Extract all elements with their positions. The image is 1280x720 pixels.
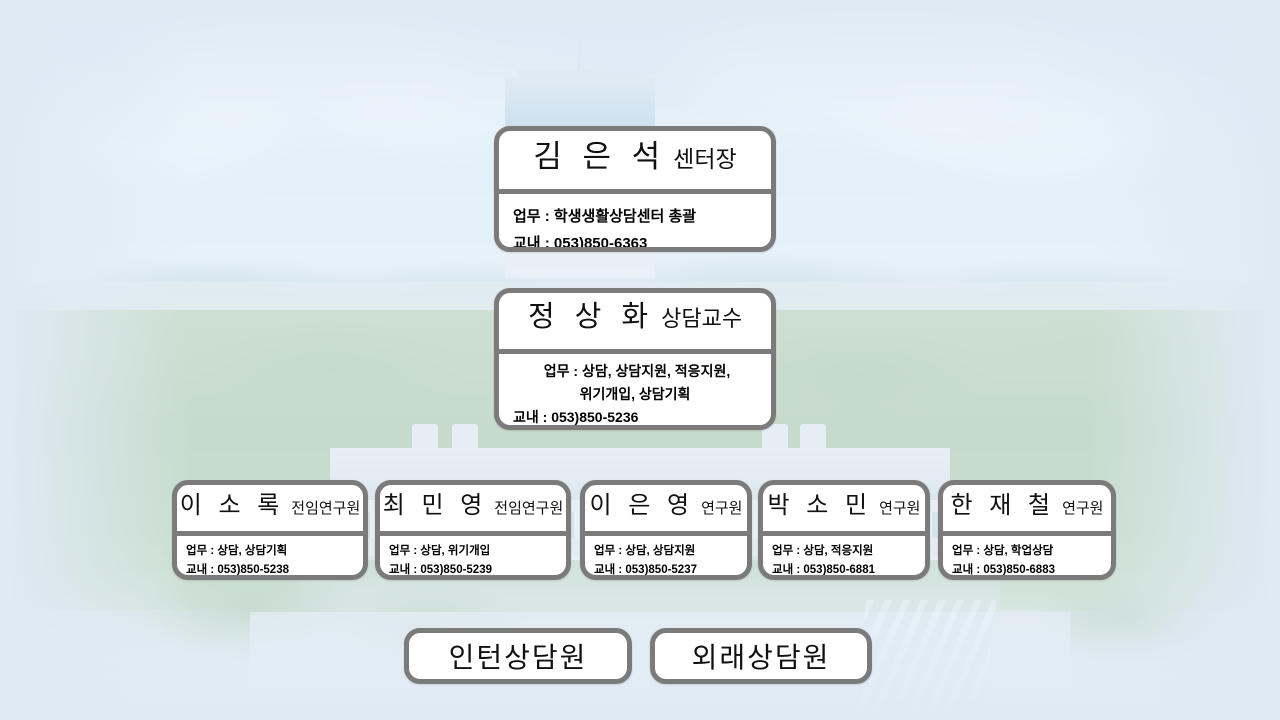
org-node-staff[interactable]: 박 소 민 연구원 업무 : 상담, 적응지원 교내 : 053)850-688… xyxy=(758,480,930,580)
staff-phone: 교내 : 053)850-5239 xyxy=(389,561,566,580)
director-name-row: 김 은 석 센터장 xyxy=(499,131,771,189)
professor-name: 정 상 화 xyxy=(528,293,654,335)
staff-name: 한 재 철 xyxy=(951,485,1056,520)
staff-phone: 교내 : 053)850-6881 xyxy=(772,561,925,580)
org-node-external-counselor[interactable]: 외래상담원 xyxy=(650,628,872,684)
staff-phone: 교내 : 053)850-6883 xyxy=(952,561,1111,580)
intern-label: 인턴상담원 xyxy=(449,636,588,676)
org-node-staff[interactable]: 한 재 철 연구원 업무 : 상담, 학업상담 교내 : 053)850-688… xyxy=(938,480,1116,580)
org-node-intern-counselor[interactable]: 인턴상담원 xyxy=(404,628,632,684)
external-label: 외래상담원 xyxy=(692,636,831,676)
staff-name-row: 이 은 영 연구원 xyxy=(585,485,747,531)
staff-title: 전임연구원 xyxy=(494,497,563,518)
staff-name: 이 소 록 xyxy=(180,485,285,520)
staff-name: 박 소 민 xyxy=(768,485,873,520)
professor-duty-line2: 위기개입, 상담기획 xyxy=(499,383,771,406)
org-node-staff[interactable]: 이 은 영 연구원 업무 : 상담, 상담지원 교내 : 053)850-523… xyxy=(580,480,752,580)
staff-duty: 업무 : 상담, 적응지원 xyxy=(772,542,925,561)
org-node-staff[interactable]: 최 민 영 전임연구원 업무 : 상담, 위기개입 교내 : 053)850-5… xyxy=(375,480,571,580)
staff-title: 연구원 xyxy=(1062,497,1103,518)
org-node-director[interactable]: 김 은 석 센터장 업무 : 학생생활상담센터 총괄 교내 : 053)850-… xyxy=(494,126,776,252)
staff-name-row: 최 민 영 전임연구원 xyxy=(380,485,566,531)
director-duty: 업무 : 학생생활상담센터 총괄 xyxy=(513,203,771,230)
staff-details: 업무 : 상담, 상담지원 교내 : 053)850-5237 xyxy=(585,536,747,580)
staff-duty: 업무 : 상담, 학업상담 xyxy=(952,542,1111,561)
director-phone: 교내 : 053)850-6363 xyxy=(513,230,771,252)
org-node-staff[interactable]: 이 소 록 전임연구원 업무 : 상담, 상담기획 교내 : 053)850-5… xyxy=(172,480,368,580)
professor-phone: 교내 : 053)850-5236 xyxy=(499,406,771,429)
staff-phone: 교내 : 053)850-5238 xyxy=(186,561,363,580)
staff-duty: 업무 : 상담, 상담기획 xyxy=(186,542,363,561)
staff-name: 이 은 영 xyxy=(590,485,695,520)
staff-name-row: 한 재 철 연구원 xyxy=(943,485,1111,531)
director-title: 센터장 xyxy=(673,140,736,174)
staff-title: 전임연구원 xyxy=(291,497,360,518)
staff-details: 업무 : 상담, 적응지원 교내 : 053)850-6881 xyxy=(763,536,925,580)
professor-details: 업무 : 상담, 상담지원, 적응지원, 위기개입, 상담기획 교내 : 053… xyxy=(499,354,771,429)
org-node-professor[interactable]: 정 상 화 상담교수 업무 : 상담, 상담지원, 적응지원, 위기개입, 상담… xyxy=(494,288,776,430)
staff-title: 연구원 xyxy=(701,497,742,518)
staff-phone: 교내 : 053)850-5237 xyxy=(594,561,747,580)
staff-title: 연구원 xyxy=(879,497,920,518)
staff-duty: 업무 : 상담, 상담지원 xyxy=(594,542,747,561)
org-chart-page: 김 은 석 센터장 업무 : 학생생활상담센터 총괄 교내 : 053)850-… xyxy=(0,0,1280,720)
staff-name: 최 민 영 xyxy=(383,485,488,520)
staff-details: 업무 : 상담, 상담기획 교내 : 053)850-5238 xyxy=(177,536,363,580)
professor-name-row: 정 상 화 상담교수 xyxy=(499,293,771,349)
staff-details: 업무 : 상담, 위기개입 교내 : 053)850-5239 xyxy=(380,536,566,580)
director-details: 업무 : 학생생활상담센터 총괄 교내 : 053)850-6363 xyxy=(499,194,771,252)
staff-details: 업무 : 상담, 학업상담 교내 : 053)850-6883 xyxy=(943,536,1111,580)
staff-duty: 업무 : 상담, 위기개입 xyxy=(389,542,566,561)
professor-duty-line1: 업무 : 상담, 상담지원, 적응지원, xyxy=(499,360,771,383)
professor-title: 상담교수 xyxy=(661,301,742,333)
staff-name-row: 이 소 록 전임연구원 xyxy=(177,485,363,531)
staff-name-row: 박 소 민 연구원 xyxy=(763,485,925,531)
director-name: 김 은 석 xyxy=(533,131,666,176)
